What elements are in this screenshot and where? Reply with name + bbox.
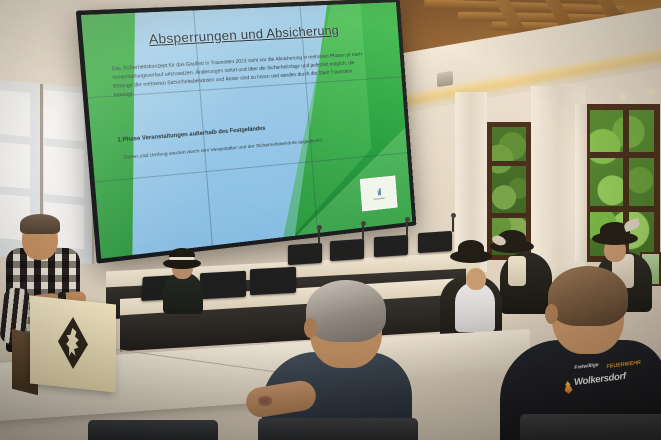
tyrolean-hat-crown-icon (458, 240, 484, 256)
person-head (466, 268, 486, 290)
ear (304, 318, 317, 338)
gooseneck-microphone (452, 216, 454, 232)
downlight (617, 93, 629, 101)
desk-monitor (250, 267, 296, 295)
shirt-line-1: Freiwillige (574, 363, 599, 371)
shirt-line-3: Wolkersdorf (574, 372, 627, 388)
conference-chair (258, 418, 418, 440)
window-reveal (575, 104, 587, 262)
conference-chair (520, 414, 661, 440)
wall-speaker (437, 71, 453, 87)
fedora-crown-icon (169, 248, 195, 263)
short-hair (548, 266, 628, 326)
desk-monitor (418, 231, 452, 253)
speaker-lectern[interactable] (30, 295, 116, 392)
gooseneck-microphone (362, 224, 364, 240)
arm-tattoo (258, 396, 272, 406)
ear (545, 304, 558, 324)
city-crest-icon (58, 315, 88, 370)
desk-monitor (200, 271, 246, 299)
desk-monitor (330, 239, 364, 261)
flame-icon (562, 380, 575, 394)
gray-hair (306, 280, 386, 342)
fedora-band (169, 257, 195, 260)
presenter-hair (20, 214, 60, 234)
desk-monitor (374, 235, 408, 257)
gooseneck-microphone (318, 228, 320, 244)
conference-chair (88, 420, 218, 440)
costume-shirt-collar (508, 256, 526, 286)
desk-monitor (288, 243, 322, 265)
shirt-line-2: FEUERWEHR (606, 361, 641, 371)
photo-scene: Absperrungen und Absicherung Das Sicherh… (0, 0, 661, 440)
downlight (645, 88, 657, 96)
lion-icon (65, 327, 81, 359)
gooseneck-microphone (406, 220, 408, 236)
